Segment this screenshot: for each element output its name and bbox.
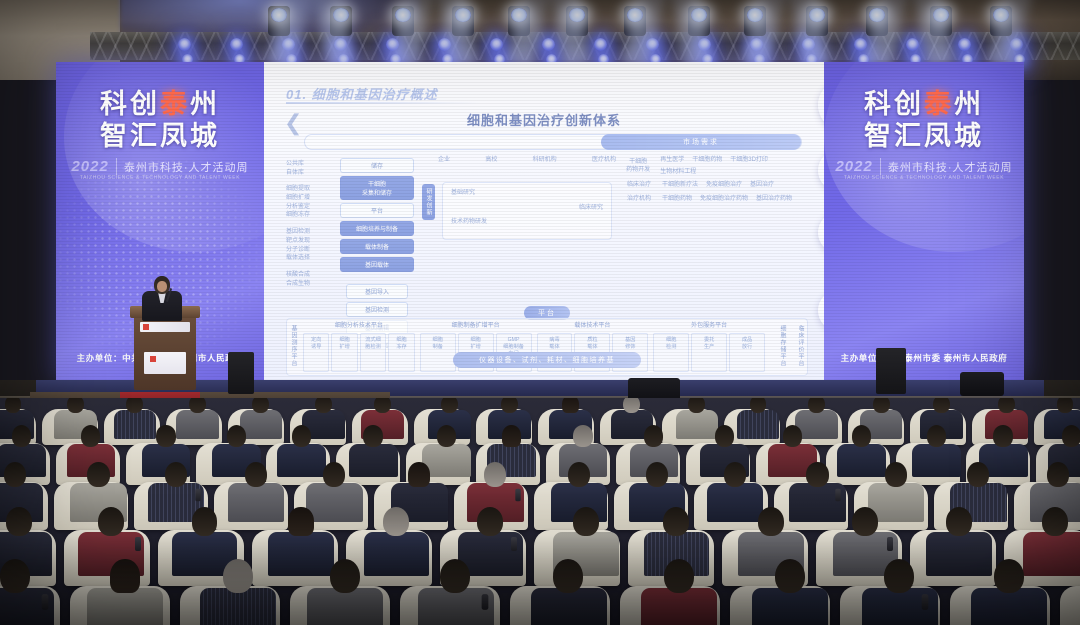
diagram-tag: 科研机构: [533, 156, 557, 165]
stage-light-par: [958, 38, 971, 51]
left-tag: 基因检测靶点发现分子诊断载体选择: [286, 228, 332, 263]
diagram-tag: 免疫细胞治疗: [706, 181, 742, 190]
audience-person-head: [4, 462, 26, 487]
diagram-box: 基因导入: [346, 284, 408, 299]
audience-person-head: [192, 507, 218, 536]
diagram-tag: 干细胞药物: [692, 156, 722, 165]
platform-group: 外包服务平台细胞检测委托生产成品放行: [653, 322, 765, 372]
diagram-tag: 干细胞药物: [662, 195, 692, 204]
platform-group-label: 载体技术平台: [537, 322, 649, 330]
banner-right-subtitle-en: TAIZHOU SCIENCE & TECHNOLOGY AND TALENT …: [824, 175, 1024, 181]
platform-group-label: 外包服务平台: [653, 322, 765, 330]
podium-logo-mark-icon: [143, 324, 149, 330]
diagram-tag: 干细胞3D打印: [730, 156, 768, 165]
thermos-cup: [835, 489, 840, 502]
platform-item: 委托生产: [691, 333, 727, 372]
diagram-tag: 临床研究: [451, 204, 603, 213]
thermos-cup: [195, 489, 200, 502]
light-bulb-icon: [230, 38, 243, 51]
thermos-cup: [515, 489, 520, 502]
audience-person-head: [1062, 425, 1080, 447]
pa-speaker-right: [876, 348, 906, 394]
platform-vlabel-right-1-wrap: 细胞存储平台: [779, 325, 785, 367]
audience-person-head: [852, 507, 878, 536]
audience-person-head: [646, 462, 668, 487]
audience-person-head: [933, 398, 950, 413]
audience-person-head: [927, 425, 946, 447]
stage-light-par: [230, 38, 243, 51]
banner-left-subtitle-en: TAIZHOU SCIENCE & TECHNOLOGY AND TALENT …: [56, 175, 264, 181]
audience-person-head: [323, 462, 345, 487]
diagram-box: 干细胞采集和储存: [340, 176, 414, 200]
banner-left-subtitle: 2022泰州市科技·人才活动周: [56, 158, 264, 175]
diagram-group-label: 治疗机构: [622, 195, 656, 204]
audience-person-head: [573, 507, 599, 536]
audience-person-head: [501, 398, 518, 413]
banner-right-subtitle-text: 泰州市科技·人才活动周: [888, 162, 1013, 174]
podium-logo-mark-icon: [150, 356, 156, 362]
audience-person-head: [437, 425, 456, 447]
stage-monitor: [960, 372, 1004, 396]
stage-light-par: [594, 38, 607, 51]
platform-vlabel-left: 基因测序平台: [290, 325, 296, 367]
diagram-tag: 再生医学: [660, 156, 684, 165]
stage-light-par: [854, 38, 867, 51]
light-bulb-icon: [594, 38, 607, 51]
podium-front-panel: [144, 352, 186, 374]
mid-vertical-label: 研发创新: [422, 184, 435, 220]
pa-speaker-left: [228, 352, 254, 394]
audience-person-head: [1047, 462, 1069, 487]
podium-logo-plate: [140, 322, 190, 332]
platform-vlabel-right-2-wrap: 临床评价平台: [797, 325, 803, 367]
audience-person-head: [156, 425, 175, 447]
banner-right-line2: 智汇凤城: [824, 114, 1024, 153]
audience-person-head: [852, 425, 871, 447]
audience-person-head: [87, 462, 109, 487]
diagram-tag: 基础研究: [451, 189, 603, 198]
light-bulb-icon: [906, 38, 919, 51]
audience-person-head: [783, 425, 802, 447]
platform-item: 成品放行: [729, 333, 765, 372]
banner-right-subtitle: 2022泰州市科技·人才活动周: [824, 158, 1024, 175]
audience-person-head: [408, 462, 430, 487]
audience-person-head: [252, 398, 269, 413]
banner-right: 科创泰州 智汇凤城 2022泰州市科技·人才活动周 TAIZHOU SCIENC…: [824, 62, 1024, 380]
audience-person-head: [227, 425, 246, 447]
platform-group: 细胞分析技术平台定向诱导细胞扩增流式细胞检测细胞冻存: [303, 322, 415, 372]
audience-person-head: [623, 398, 640, 413]
presentation-slide: 01. 细胞和基因治疗概述 ❮ 细胞和基因治疗创新体系 市场需求 公共库自体库 …: [264, 62, 824, 380]
audience-person-head: [724, 462, 746, 487]
audience-person-head: [573, 425, 592, 447]
platform-item: 细胞扩增: [331, 333, 357, 372]
audience-person-head: [998, 398, 1015, 413]
audience-person-head: [758, 507, 784, 536]
audience-person-head: [568, 462, 590, 487]
audience-person-head: [967, 462, 989, 487]
banner-left-line2: 智汇凤城: [56, 114, 264, 153]
platform-vlabel-right-1: 细胞存储平台: [779, 325, 785, 367]
diagram-right-group: 治疗机构干细胞药物免疫细胞治疗药物基因治疗药物: [622, 195, 804, 204]
diagram-mid-vchip: 研发创新: [422, 184, 435, 220]
diagram-right-group: 临床治疗干细胞新疗法免疫细胞治疗基因治疗: [622, 181, 804, 190]
diagram-box: 基因检测: [346, 302, 408, 317]
diagram-tag: 企业: [438, 156, 450, 165]
audience-person-head: [715, 425, 734, 447]
stage-light-par: [490, 38, 503, 51]
audience-person-head: [484, 462, 506, 487]
platform-item: 细胞检测: [653, 333, 689, 372]
audience-person-head: [750, 398, 767, 413]
diagram-tag: 高校: [485, 156, 497, 165]
slide-diagram: 公共库自体库 细胞提取细胞扩增分析鉴定细胞冻存 基因检测靶点发现分子诊断载体选择…: [286, 156, 808, 370]
platform-group-label: 细胞制备扩增平台: [420, 322, 532, 330]
audience-person-head: [81, 425, 100, 447]
audience-person-head: [288, 507, 314, 536]
audience-person-head: [126, 398, 143, 413]
banner-right-year: 2022: [835, 158, 880, 175]
platform-vlabel-right-2: 临床评价平台: [797, 325, 803, 367]
audience-person-head: [189, 398, 206, 413]
stage-light-par: [178, 38, 191, 51]
left-tag: 核酸合成合成生物: [286, 271, 332, 288]
audience-person-head: [477, 507, 503, 536]
audience-person-head: [441, 398, 458, 413]
diagram-mid-group: 基础研究临床研究技术药物研发: [442, 182, 612, 240]
audience-person-head: [808, 398, 825, 413]
audience-person-head: [98, 507, 124, 536]
audience-person-head: [245, 462, 267, 487]
diagram-right-group: 干细胞药物开发再生医学干细胞药物干细胞3D打印生物材料工程: [622, 156, 804, 176]
audience-person-head: [502, 425, 521, 447]
speaker-person: [140, 276, 184, 320]
diagram-tag: 基因治疗药物: [756, 195, 792, 204]
light-bulb-icon: [958, 38, 971, 51]
conference-photo: 科创泰州 智汇凤城 2022泰州市科技·人才活动周 TAIZHOU SCIENC…: [0, 0, 1080, 625]
diagram-tag: 基因治疗: [750, 181, 774, 190]
podium: [134, 312, 196, 390]
banner-left-subtitle-text: 泰州市科技·人才活动周: [124, 162, 249, 174]
audience-person-head: [885, 462, 907, 487]
diagram-group-label: 干细胞药物开发: [622, 158, 654, 175]
audience-person-head: [6, 507, 32, 536]
stage-light-par: [906, 38, 919, 51]
diagram-box: 平台: [340, 203, 414, 218]
audience-person-head: [1042, 507, 1068, 536]
audience-person-head: [12, 425, 31, 447]
banner-left-year: 2022: [71, 158, 116, 175]
foreground-shading: [0, 535, 1080, 625]
left-tag: 细胞提取细胞扩增分析鉴定细胞冻存: [286, 185, 332, 220]
audience-person-head: [873, 398, 890, 413]
platform-item: 细胞制备: [420, 333, 456, 372]
slide-title: 细胞和基因治疗创新体系: [264, 110, 824, 129]
diagram-left-boxes: 储存干细胞采集和储存平台细胞培养与制备载体制备基因载体: [340, 158, 414, 275]
platform-item: 流式细胞检测: [360, 333, 386, 372]
light-bulb-icon: [542, 38, 555, 51]
audience-area: 科技局人社局总工会人才办科技局科技局人社局总工会人才办科技局人社局总工会人才办科…: [0, 398, 1080, 625]
diagram-mid-tags: 企业高校科研机构医疗机构: [438, 156, 616, 165]
diagram-right-groups: 干细胞药物开发再生医学干细胞药物干细胞3D打印生物材料工程临床治疗干细胞新疗法免…: [622, 156, 804, 209]
audience-person-head: [292, 425, 311, 447]
kicker-underline: [286, 102, 482, 104]
light-bulb-icon: [178, 38, 191, 51]
platform-item: 细胞冻存: [388, 333, 414, 372]
audience-person-head: [562, 398, 579, 413]
slide-top-pill-fill: 市场需求: [601, 134, 801, 150]
audience-person-head: [946, 507, 972, 536]
diagram-tag: 免疫细胞治疗药物: [700, 195, 748, 204]
platform-item: 定向诱导: [303, 333, 329, 372]
led-screen: 科创泰州 智汇凤城 2022泰州市科技·人才活动周 TAIZHOU SCIENC…: [56, 62, 1024, 380]
light-bulb-icon: [854, 38, 867, 51]
audience-person-head: [993, 425, 1012, 447]
audience-person-head: [806, 462, 828, 487]
diagram-tag: 医疗机构: [592, 156, 616, 165]
audience-person-head: [165, 462, 187, 487]
diagram-tag: 技术药物研发: [451, 218, 603, 227]
audience-person-head: [363, 425, 382, 447]
diagram-box: 基因载体: [340, 257, 414, 272]
diagram-group-label: 临床治疗: [622, 181, 656, 190]
audience-person-head: [67, 398, 84, 413]
diagram-box: 载体制备: [340, 239, 414, 254]
diagram-tag: 干细胞新疗法: [662, 181, 698, 190]
audience-person-head: [383, 507, 409, 536]
slide-bottom-bar: 仪器设备、试剂、耗材、细胞培养基: [453, 352, 641, 368]
stage-light-par: [542, 38, 555, 51]
audience-person-head: [663, 507, 689, 536]
diagram-tag: 生物材料工程: [660, 168, 696, 177]
audience-person-head: [374, 398, 391, 413]
audience-person-head: [644, 425, 663, 447]
platform-group-label: 细胞分析技术平台: [303, 322, 415, 330]
diagram-mid-boxes: 基础研究临床研究技术药物研发: [442, 182, 612, 240]
audience-person-head: [688, 398, 705, 413]
slide-section-kicker: 01. 细胞和基因治疗概述: [286, 84, 438, 103]
slide-top-pill-label: 市场需求: [601, 134, 801, 150]
slide-top-pill: 市场需求: [304, 134, 802, 150]
speaker-face: [157, 281, 167, 292]
platform-vlabel-left-wrap: 基因测序平台: [290, 325, 296, 367]
diagram-left-tags: 公共库自体库 细胞提取细胞扩增分析鉴定细胞冻存 基因检测靶点发现分子诊断载体选择…: [286, 160, 332, 288]
diagram-box: 储存: [340, 158, 414, 173]
light-bulb-icon: [490, 38, 503, 51]
banner-right-organizer: 主办单位：中共泰州市委 泰州市人民政府: [824, 352, 1024, 364]
audience-person-head: [315, 398, 332, 413]
left-tag: 公共库自体库: [286, 160, 332, 177]
diagram-box: 细胞培养与制备: [340, 221, 414, 236]
